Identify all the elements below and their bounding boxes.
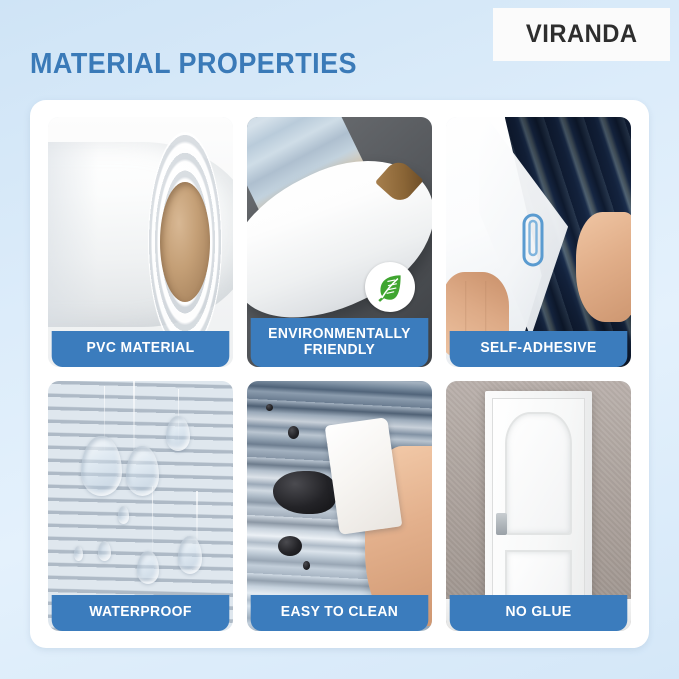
feature-cell-waterproof[interactable]: WATERPROOF: [48, 381, 233, 631]
feature-cell-environmentally-friendly[interactable]: ENVIRONMENTALLY FRIENDLY: [247, 117, 432, 367]
wood-grain-overlay: [48, 381, 233, 631]
feature-cell-easy-to-clean[interactable]: EASY TO CLEAN: [247, 381, 432, 631]
feature-label-self-adhesive: SELF-ADHESIVE: [450, 331, 628, 367]
pvc-roll-photo: [48, 117, 233, 367]
door-frame: [485, 391, 592, 621]
feature-label-easy-to-clean: EASY TO CLEAN: [251, 595, 429, 631]
easy-to-clean-photo: [247, 381, 432, 631]
self-adhesive-photo: [446, 117, 631, 367]
water-droplet: [74, 546, 83, 561]
paperclip-icon: [520, 212, 546, 268]
ink-stain: [273, 471, 336, 514]
door-panel-top: [505, 412, 572, 535]
leaf-badge: [365, 262, 415, 312]
feature-label-waterproof: WATERPROOF: [52, 595, 230, 631]
door-handle: [496, 513, 508, 535]
feature-cell-self-adhesive[interactable]: SELF-ADHESIVE: [446, 117, 631, 367]
waterproof-photo: [48, 381, 233, 631]
pvc-roll-cardboard-core: [160, 182, 210, 302]
water-droplet: [126, 446, 159, 496]
brand-logo-text: VIRANDA: [526, 20, 638, 49]
feature-cell-no-glue[interactable]: NO GLUE: [446, 381, 631, 631]
brand-logo-box: VIRANDA: [493, 8, 670, 61]
water-droplet: [118, 506, 129, 524]
pvc-roll-sheen: [48, 142, 159, 327]
ink-stain: [288, 426, 299, 439]
feature-label-environmentally-friendly: ENVIRONMENTALLY FRIENDLY: [251, 318, 429, 367]
door-leaf: [492, 398, 584, 619]
no-glue-photo: [446, 381, 631, 631]
ink-stain: [266, 404, 273, 412]
water-droplet: [178, 536, 202, 574]
water-droplet: [81, 436, 122, 496]
feature-label-no-glue: NO GLUE: [450, 595, 628, 631]
features-grid: PVC MATERIAL ENVIRONMENTALLY FRIENDLY: [48, 117, 631, 631]
water-droplet: [98, 541, 111, 561]
leaf-icon: [373, 270, 407, 304]
feature-cell-pvc-material[interactable]: PVC MATERIAL: [48, 117, 233, 367]
right-hand: [576, 212, 632, 322]
features-card: PVC MATERIAL ENVIRONMENTALLY FRIENDLY: [30, 100, 649, 648]
water-droplet: [137, 551, 159, 584]
header: MATERIAL PROPERTIES VIRANDA: [0, 0, 679, 100]
page-title: MATERIAL PROPERTIES: [30, 48, 357, 81]
water-streak: [152, 486, 154, 561]
feature-label-pvc-material: PVC MATERIAL: [52, 331, 230, 367]
vinyl-curl-tip: [375, 157, 424, 206]
ink-stain: [303, 561, 310, 570]
